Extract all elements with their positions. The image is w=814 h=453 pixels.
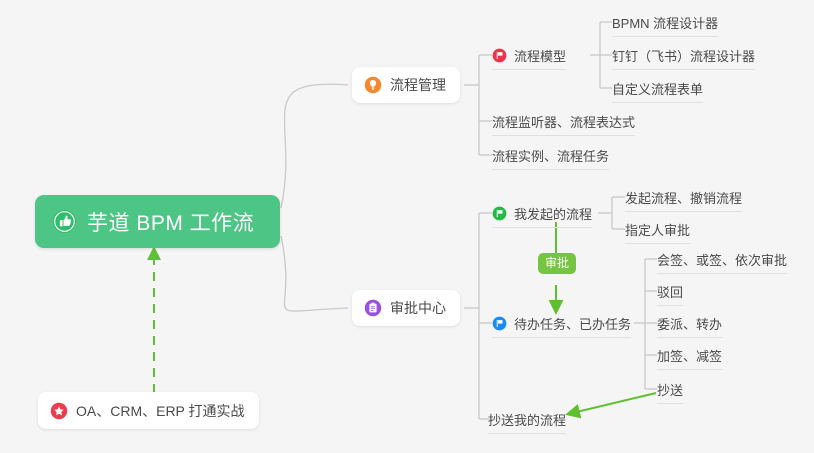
floating-node-label: OA、CRM、ERP 打通实战 [76, 401, 245, 421]
node-bpmn-designer[interactable]: BPMN 流程设计器 [612, 11, 718, 37]
node-todo-done-tasks[interactable]: 待办任务、已办任务 [492, 312, 631, 338]
node-label: 自定义流程表单 [612, 79, 703, 98]
flag-green-icon [492, 206, 507, 221]
star-icon [50, 402, 68, 420]
clipboard-icon [364, 299, 382, 317]
node-label: 钉钉（飞书）流程设计器 [612, 46, 755, 65]
flag-red-icon [492, 48, 507, 63]
node-label: 抄送 [657, 380, 683, 399]
node-start-cancel-process[interactable]: 发起流程、撤销流程 [625, 186, 742, 212]
branch-node-label: 审批中心 [390, 298, 446, 318]
node-assigned-approval[interactable]: 指定人审批 [625, 218, 690, 244]
node-label: 我发起的流程 [514, 204, 592, 223]
thumbs-up-icon [52, 209, 77, 234]
node-label: 会签、或签、依次审批 [657, 250, 787, 269]
branch-node-approval-center[interactable]: 审批中心 [352, 290, 460, 326]
node-label: BPMN 流程设计器 [612, 13, 718, 32]
mindmap-canvas: 芋道 BPM 工作流 流程管理 流程模型 流程监听器、流程表达式 流程实例、流 [0, 0, 814, 453]
branch-node-process-management[interactable]: 流程管理 [352, 67, 460, 103]
node-label: 流程实例、流程任务 [492, 146, 609, 165]
node-custom-form[interactable]: 自定义流程表单 [612, 77, 703, 103]
approve-badge: 审批 [538, 253, 576, 274]
branch-node-label: 流程管理 [390, 75, 446, 95]
floating-node-oa-crm-erp[interactable]: OA、CRM、ERP 打通实战 [38, 392, 259, 429]
node-reject[interactable]: 驳回 [657, 280, 683, 306]
node-label: 指定人审批 [625, 220, 690, 239]
node-label: 抄送我的流程 [488, 410, 566, 429]
node-countersign-modes[interactable]: 会签、或签、依次审批 [657, 248, 787, 274]
node-label: 流程监听器、流程表达式 [492, 112, 635, 131]
node-label: 待办任务、已办任务 [514, 314, 631, 333]
node-label: 流程模型 [514, 46, 566, 65]
node-label: 委派、转办 [657, 314, 722, 333]
node-dingtalk-designer[interactable]: 钉钉（飞书）流程设计器 [612, 44, 755, 70]
node-label: 发起流程、撤销流程 [625, 188, 742, 207]
node-process-model[interactable]: 流程模型 [492, 44, 566, 70]
node-label: 加签、减签 [657, 346, 722, 365]
node-instance-task[interactable]: 流程实例、流程任务 [492, 144, 609, 170]
node-listener-expression[interactable]: 流程监听器、流程表达式 [492, 110, 635, 136]
root-node-label: 芋道 BPM 工作流 [87, 207, 254, 237]
root-node[interactable]: 芋道 BPM 工作流 [35, 195, 280, 248]
node-cc-to-me[interactable]: 抄送我的流程 [488, 408, 566, 434]
node-carbon-copy[interactable]: 抄送 [657, 378, 683, 404]
node-add-remove-sign[interactable]: 加签、减签 [657, 344, 722, 370]
node-delegate-transfer[interactable]: 委派、转办 [657, 312, 722, 338]
node-my-started-processes[interactable]: 我发起的流程 [492, 202, 592, 228]
flag-blue-icon [492, 316, 507, 331]
approve-badge-label: 审批 [545, 256, 569, 270]
lightbulb-icon [364, 76, 382, 94]
node-label: 驳回 [657, 282, 683, 301]
